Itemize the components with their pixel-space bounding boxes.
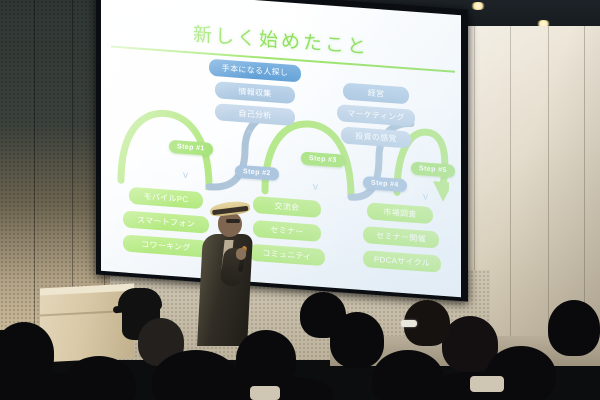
label-pill-market-research: 市場調査	[367, 202, 433, 224]
audience-collar	[250, 386, 280, 400]
audience-member-with-glasses	[404, 300, 450, 346]
ceiling-downlight	[470, 2, 486, 10]
photo-scene: 新しく始めたこと Step #1 Step #2 Step #3 Step #4…	[0, 0, 600, 400]
audience-collar	[470, 376, 504, 392]
audience-head	[330, 312, 384, 368]
label-pill-find-role-model: 手本になる人探し	[209, 59, 301, 83]
label-pill-community: コミュニティ	[249, 244, 325, 267]
chevron-down-icon: v	[423, 192, 428, 202]
projection-screen: 新しく始めたこと Step #1 Step #2 Step #3 Step #4…	[101, 0, 461, 297]
chevron-up-icon: ^	[247, 130, 252, 140]
audience-head	[62, 356, 136, 400]
audience-head	[548, 300, 600, 356]
label-pill-networking-event: 交流会	[253, 196, 321, 218]
label-pill-pdca-cycle: PDCAサイクル	[363, 250, 441, 273]
label-pill-seminar: セミナー	[253, 220, 321, 242]
speaker	[196, 196, 258, 346]
speaker-hand	[236, 248, 246, 260]
boater-hat	[209, 200, 250, 218]
glasses-icon	[226, 219, 240, 223]
presentation-slide: 新しく始めたこと Step #1 Step #2 Step #3 Step #4…	[101, 0, 461, 297]
chevron-down-icon: v	[313, 182, 318, 192]
label-pill-hold-seminar: セミナー開催	[363, 226, 439, 249]
chevron-down-icon: v	[183, 171, 188, 181]
